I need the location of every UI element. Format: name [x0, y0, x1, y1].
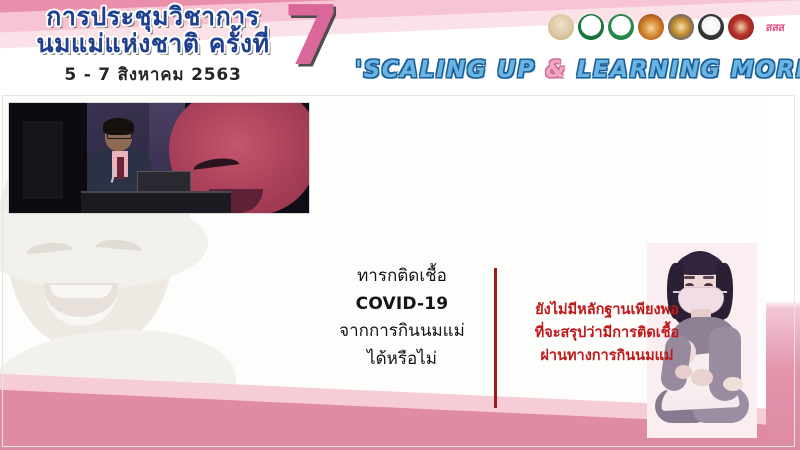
question-text-block: ทารกติดเชื้อ COVID-19 จากการกินนมแม่ ได้…	[322, 263, 482, 373]
answer-text-block: ยังไม่มีหลักฐานเพียงพอ ที่จะสรุปว่ามีการ…	[500, 299, 714, 368]
conference-tagline: 'SCALING UP & LEARNING MORE'	[355, 57, 800, 83]
thai-pediatric-society-logo	[698, 14, 724, 40]
question-line-1: ทารกติดเชื้อ	[322, 263, 482, 291]
photo-wall-panel	[23, 121, 63, 199]
thai-red-cross-logo	[728, 14, 754, 40]
sponsor-logo-row: มูลนิธิศูนย์นมแม่ กรมอนามัย กรมการแพทย์ …	[548, 14, 792, 40]
conference-title-block: การประชุมวิชาการ นมแม่แห่งชาติ ครั้งที่ …	[18, 4, 288, 88]
answer-line-3: ผ่านทางการกินนมแม่	[500, 345, 714, 368]
chulalongkorn-university-logo	[668, 14, 694, 40]
thaihealth-sss-logo: สสส	[758, 14, 792, 40]
question-line-4: ได้หรือไม่	[322, 346, 482, 374]
speaker-photo	[8, 102, 310, 214]
mahidol-university-logo	[638, 14, 664, 40]
conference-edition-number: 7	[283, 0, 340, 78]
illustration-eye-right	[704, 283, 713, 286]
question-line-2: COVID-19	[322, 291, 482, 319]
conference-title-line2: นมแม่แห่งชาติ ครั้งที่	[18, 31, 288, 57]
photo-podium	[81, 191, 231, 214]
presentation-slide: การประชุมวิชาการ นมแม่แห่งชาติ ครั้งที่ …	[0, 0, 800, 450]
slide-header-banner: การประชุมวิชาการ นมแม่แห่งชาติ ครั้งที่ …	[0, 0, 800, 95]
photo-speaker-tie	[117, 157, 124, 179]
illustration-eyebrow-right	[703, 276, 714, 279]
illustration-foot	[723, 377, 743, 391]
question-line-3: จากการกินนมแม่	[322, 318, 482, 346]
department-health-logo: กรมการแพทย์	[608, 14, 634, 40]
answer-line-1: ยังไม่มีหลักฐานเพียงพอ	[500, 299, 714, 322]
tagline-ampersand: &	[545, 57, 567, 83]
conference-title-line1: การประชุมวิชาการ	[18, 4, 288, 30]
illustration-eyebrow-left	[684, 276, 695, 279]
answer-line-2: ที่จะสรุปว่ามีการติดเชื้อ	[500, 322, 714, 345]
royal-emblem-logo: มูลนิธิศูนย์นมแม่	[548, 14, 574, 40]
photo-speaker-glasses	[107, 131, 132, 139]
tagline-part1: 'SCALING UP	[355, 57, 545, 83]
slide-body: ทารกติดเชื้อ COVID-19 จากการกินนมแม่ ได้…	[0, 95, 800, 450]
illustration-hand-supporting	[691, 369, 713, 386]
illustration-eye-left	[685, 283, 694, 286]
tagline-part2: LEARNING MORE'	[567, 57, 800, 83]
vertical-divider	[494, 268, 497, 408]
conference-date: 5 - 7 สิงหาคม 2563	[18, 61, 288, 88]
ministry-public-health-logo: กรมอนามัย	[578, 14, 604, 40]
